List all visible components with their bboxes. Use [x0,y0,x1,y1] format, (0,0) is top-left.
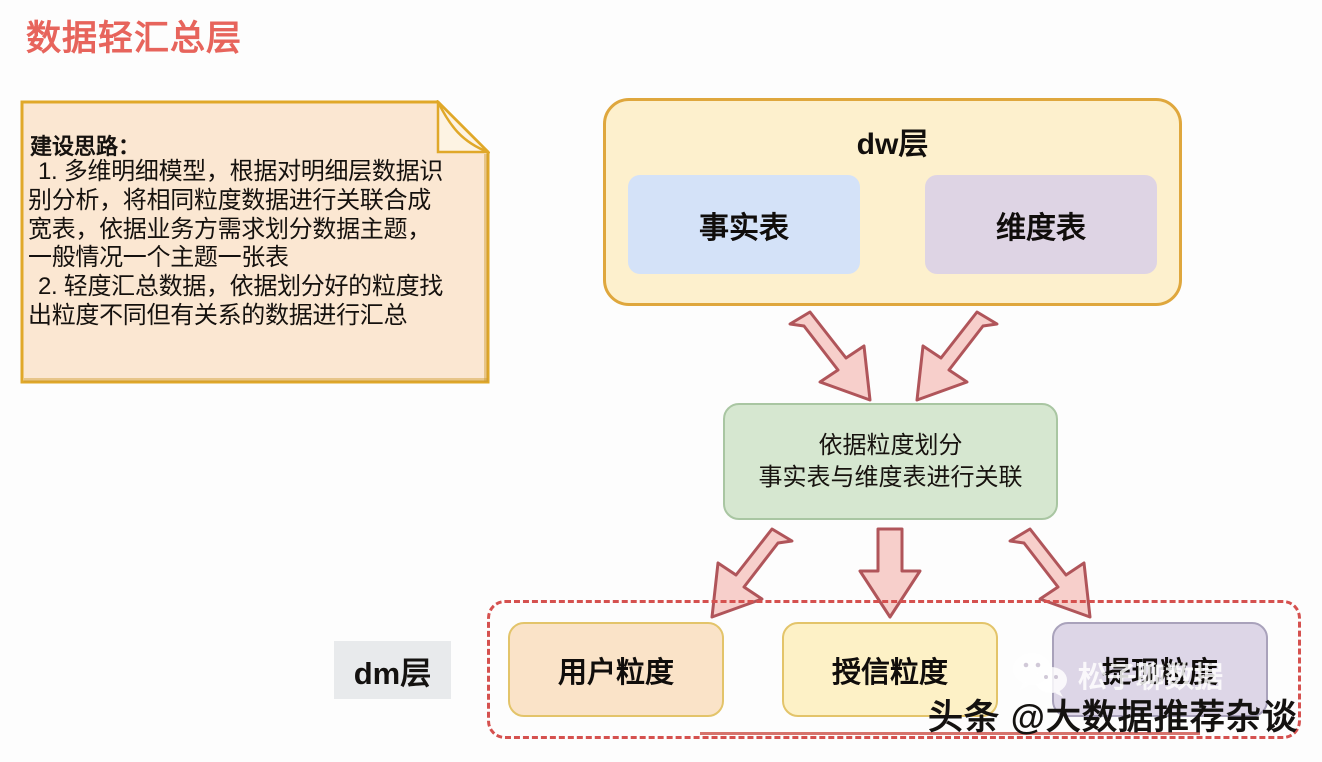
note-line: 2. 轻度汇总数据，依据划分好的粒度找 [28,273,482,302]
note-box: 建设思路： 1. 多维明细模型，根据对明细层数据识 别分析，将相同粒度数据进行关… [20,100,490,384]
page-title: 数据轻汇总层 [26,10,242,61]
dm-layer-label: dm层 [334,641,451,699]
dm-card-user-grain: 用户粒度 [508,622,724,717]
note-text-body: 建设思路： 1. 多维明细模型，根据对明细层数据识 别分析，将相同粒度数据进行关… [20,100,490,384]
note-line: 别分析，将相同粒度数据进行关联合成 [28,187,482,216]
note-line: 出粒度不同但有关系的数据进行汇总 [28,302,482,331]
arrow-down-right-icon [784,310,882,402]
note-heading: 建设思路： [30,136,482,158]
toutiao-watermark-text: 头条 @大数据推荐杂谈 [928,698,1298,737]
grain-association-box: 依据粒度划分 事实表与维度表进行关联 [723,403,1058,520]
note-line: 宽表，依据业务方需求划分数据主题， [28,216,482,245]
toutiao-watermark: 头条 @大数据推荐杂谈 [928,689,1298,740]
grain-box-line-1: 依据粒度划分 [819,430,963,462]
dw-layer-title: dw层 [606,119,1179,163]
note-line: 1. 多维明细模型，根据对明细层数据识 [28,158,482,187]
arrow-down-left-icon [905,310,1003,402]
note-line: 一般情况一个主题一张表 [28,244,482,273]
dw-layer-box: dw层 事实表 维度表 [603,98,1182,306]
dimension-table-box: 维度表 [925,175,1157,274]
slide-canvas: 数据轻汇总层 建设思路： 1. 多维明细模型，根据对明细层数据识 别分析，将相同… [0,0,1322,762]
fact-table-box: 事实表 [628,175,860,274]
grain-box-line-2: 事实表与维度表进行关联 [759,462,1023,494]
